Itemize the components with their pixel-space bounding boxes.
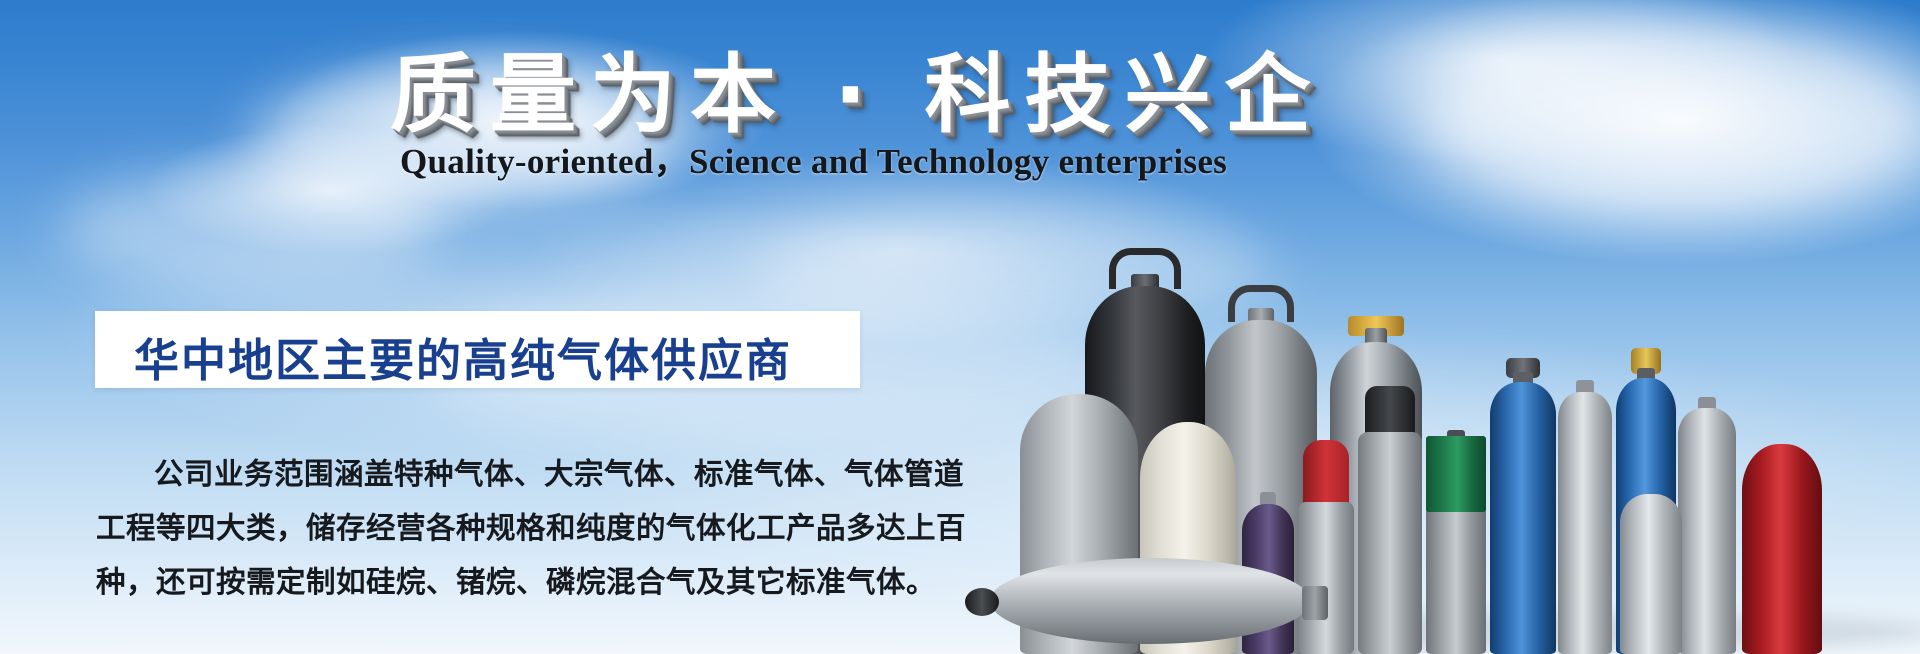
blue-tall-cylinder	[1490, 364, 1556, 654]
banner-subheadline: Quality-oriented，Science and Technology …	[400, 133, 1227, 184]
paragraph-line: 工程等四大类，储存经营各种规格和纯度的气体化工产品多达上百	[96, 502, 1001, 556]
cylinder-body	[1358, 432, 1422, 654]
red-cap-cylinder	[1298, 444, 1354, 654]
gas-cylinders-photo	[1130, 0, 1920, 654]
highlight-box-text: 华中地区主要的高纯气体供应商	[95, 311, 860, 389]
green-base-cylinder	[1426, 436, 1486, 654]
banner-paragraph: 公司业务范围涵盖特种气体、大宗气体、标准气体、气体管道 工程等四大类，储存经营各…	[96, 448, 1001, 610]
cylinder-body	[1620, 494, 1682, 654]
cylinder-body	[1678, 408, 1736, 654]
aluminium-cylinder	[1678, 402, 1736, 654]
cylinder-body	[1426, 442, 1486, 654]
aluminium-cylinder	[1558, 386, 1612, 654]
tank-valve	[965, 588, 999, 616]
grey-black-cap-cylinder	[1358, 392, 1422, 654]
cylinder-cap	[1303, 440, 1349, 506]
marketing-banner: 质量为本 · 科技兴企 Quality-oriented，Science and…	[0, 0, 1920, 654]
cylinder-body	[1742, 444, 1822, 654]
dark-red-cylinder	[1742, 444, 1822, 654]
highlight-box: 华中地区主要的高纯气体供应商	[95, 311, 860, 388]
paragraph-line: 公司业务范围涵盖特种气体、大宗气体、标准气体、气体管道	[96, 448, 1001, 502]
cylinder-body	[1298, 502, 1354, 654]
short-aluminium-cylinder	[1620, 494, 1682, 654]
tank-cap	[1302, 586, 1328, 620]
paragraph-line: 种，还可按需定制如硅烷、锗烷、磷烷混合气及其它标准气体。	[96, 556, 1001, 610]
cylinder-body	[1558, 392, 1612, 654]
cloud-decoration	[60, 170, 440, 290]
horizontal-grey-tank	[990, 558, 1310, 644]
cylinder-body	[1490, 382, 1556, 654]
cylinder-cap	[1365, 386, 1415, 438]
